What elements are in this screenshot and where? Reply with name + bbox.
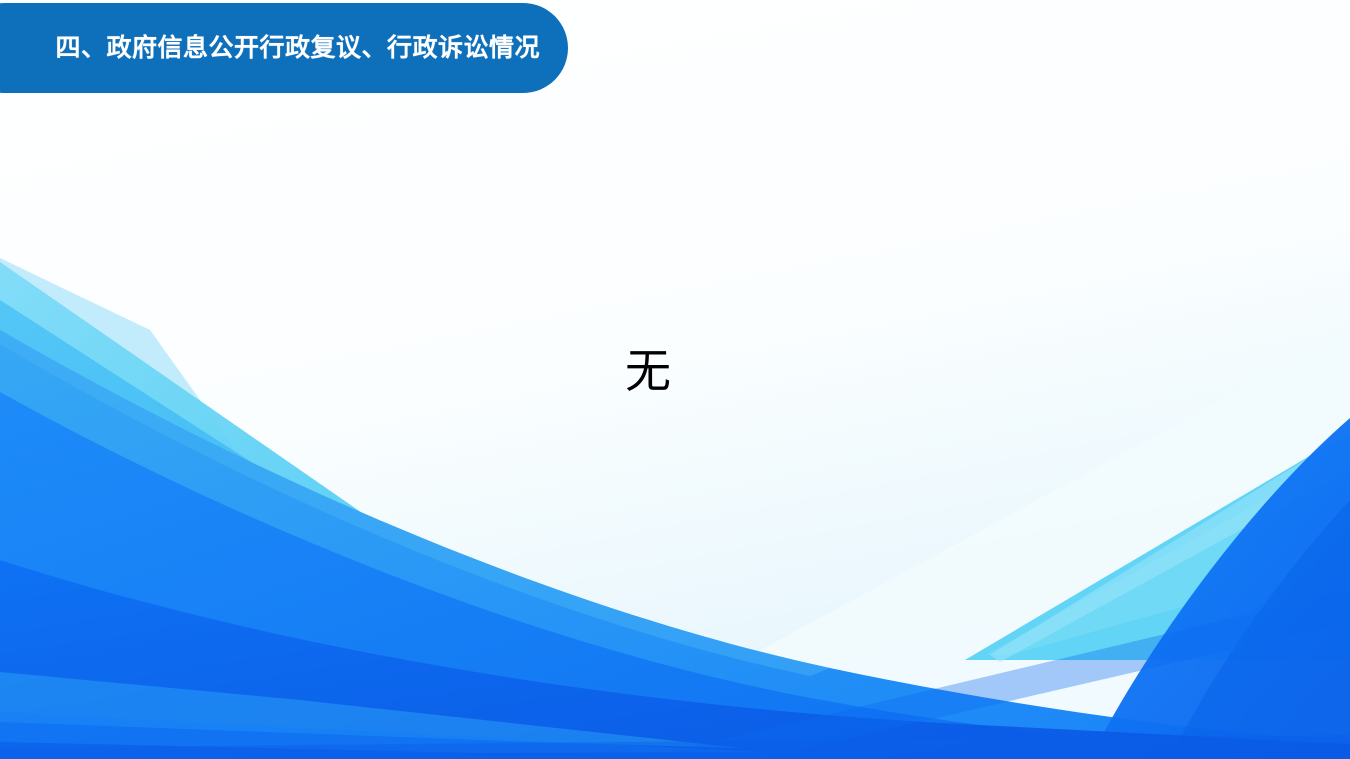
content-body-text: 无 — [625, 346, 671, 397]
section-title-banner: 四、政府信息公开行政复议、行政诉讼情况 — [0, 3, 568, 93]
slide: 四、政府信息公开行政复议、行政诉讼情况 无 — [0, 0, 1350, 759]
section-title-text: 四、政府信息公开行政复议、行政诉讼情况 — [55, 36, 540, 61]
blue-wave-background — [0, 0, 1350, 759]
